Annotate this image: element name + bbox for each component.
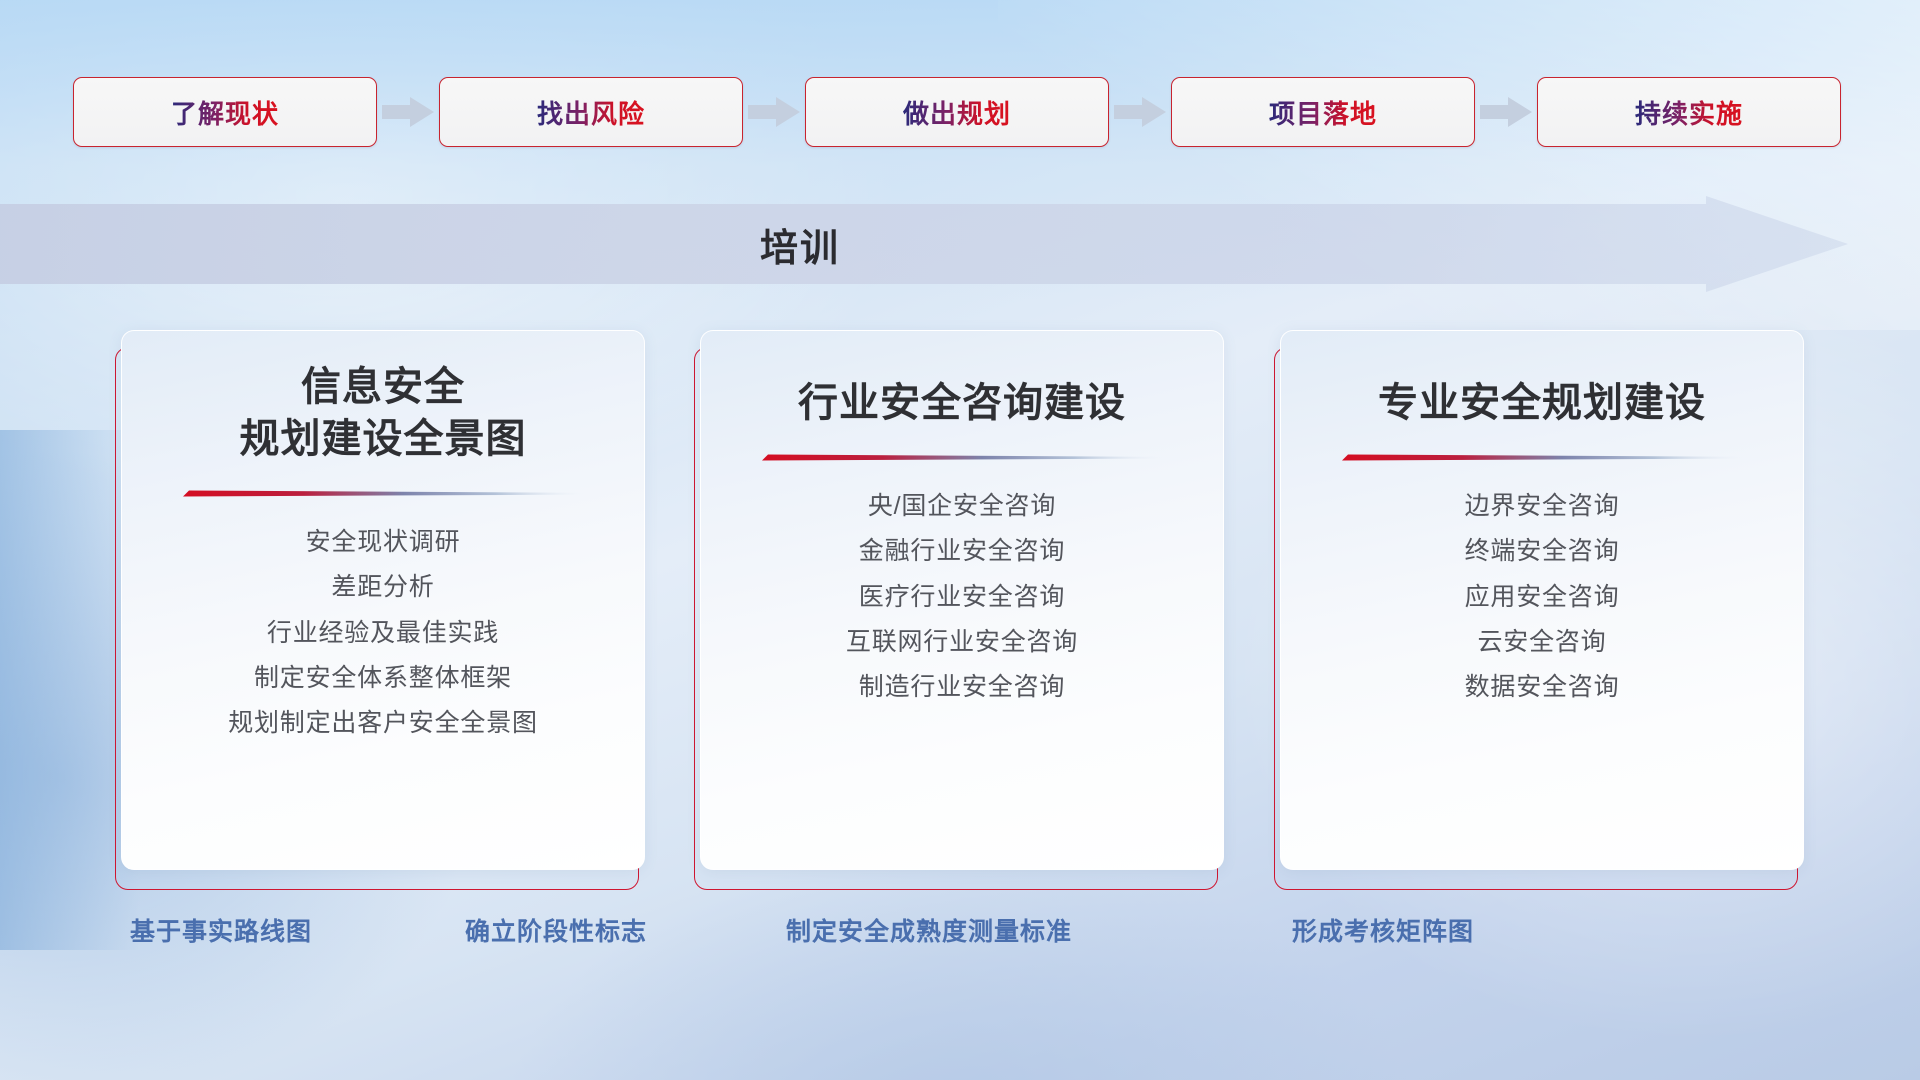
- step-label-1: 了解现状: [171, 94, 279, 131]
- card-1-panel[interactable]: 信息安全 规划建设全景图: [121, 330, 645, 870]
- card-1-title-line-1: 信息安全: [122, 361, 644, 413]
- card-1-title-line-2: 规划建设全景图: [122, 413, 644, 465]
- list-item: 金融行业安全咨询: [859, 536, 1065, 567]
- list-item: 数据安全咨询: [1465, 672, 1620, 703]
- step-label-2: 找出风险: [537, 94, 645, 131]
- training-label: 培训: [0, 196, 1600, 292]
- caption-3: 制定安全成熟度测量标准: [786, 910, 1072, 954]
- list-item: 应用安全咨询: [1465, 582, 1620, 613]
- caption-2: 确立阶段性标志: [465, 910, 647, 954]
- card-3-list: 边界安全咨询 终端安全咨询 应用安全咨询 云安全咨询 数据安全咨询: [1281, 491, 1803, 703]
- card-3-title: 专业安全规划建设: [1281, 377, 1803, 429]
- card-3-divider-icon: [1342, 451, 1742, 465]
- step-box-1[interactable]: 了解现状: [73, 77, 377, 147]
- step-box-3[interactable]: 做出规划: [805, 77, 1109, 147]
- list-item: 差距分析: [331, 572, 434, 603]
- card-1[interactable]: 信息安全 规划建设全景图: [115, 330, 645, 890]
- step-box-5[interactable]: 持续实施: [1537, 77, 1841, 147]
- card-3-title-line-1: 专业安全规划建设: [1281, 377, 1803, 429]
- outcome-captions: 基于事实路线图 确立阶段性标志 制定安全成熟度测量标准 形成考核矩阵图: [0, 910, 1920, 974]
- card-3-panel[interactable]: 专业安全规划建设 边界安: [1280, 330, 1804, 870]
- caption-1: 基于事实路线图: [130, 910, 312, 954]
- step-arrow-icon-4: [1475, 94, 1537, 130]
- step-label-3: 做出规划: [903, 94, 1011, 131]
- card-2[interactable]: 行业安全咨询建设 央/国: [694, 330, 1224, 890]
- card-2-divider-icon: [762, 451, 1162, 465]
- list-item: 云安全咨询: [1477, 627, 1606, 658]
- step-arrow-icon-2: [743, 94, 805, 130]
- card-2-title-line-1: 行业安全咨询建设: [701, 377, 1223, 429]
- step-box-4[interactable]: 项目落地: [1171, 77, 1475, 147]
- card-2-title: 行业安全咨询建设: [701, 377, 1223, 429]
- caption-4: 形成考核矩阵图: [1292, 910, 1474, 954]
- card-3[interactable]: 专业安全规划建设 边界安: [1274, 330, 1804, 890]
- card-2-panel[interactable]: 行业安全咨询建设 央/国: [700, 330, 1224, 870]
- list-item: 规划制定出客户安全全景图: [228, 708, 538, 739]
- card-1-divider-icon: [183, 487, 583, 501]
- list-item: 医疗行业安全咨询: [859, 582, 1065, 613]
- list-item: 行业经验及最佳实践: [267, 618, 499, 649]
- list-item: 互联网行业安全咨询: [846, 627, 1078, 658]
- card-1-title: 信息安全 规划建设全景图: [122, 361, 644, 465]
- list-item: 边界安全咨询: [1465, 491, 1620, 522]
- service-cards: 信息安全 规划建设全景图: [0, 330, 1920, 890]
- step-arrow-icon-1: [377, 94, 439, 130]
- list-item: 安全现状调研: [306, 527, 461, 558]
- step-box-2[interactable]: 找出风险: [439, 77, 743, 147]
- list-item: 制造行业安全咨询: [859, 672, 1065, 703]
- step-label-4: 项目落地: [1269, 94, 1377, 131]
- list-item: 制定安全体系整体框架: [254, 663, 512, 694]
- card-1-list: 安全现状调研 差距分析 行业经验及最佳实践 制定安全体系整体框架 规划制定出客户…: [122, 527, 644, 739]
- list-item: 终端安全咨询: [1465, 536, 1620, 567]
- list-item: 央/国企安全咨询: [868, 491, 1056, 522]
- process-step-flow: 了解现状 找出风险 做出规划 项目落地 持续实施: [0, 72, 1920, 152]
- card-2-list: 央/国企安全咨询 金融行业安全咨询 医疗行业安全咨询 互联网行业安全咨询 制造行…: [701, 491, 1223, 703]
- step-arrow-icon-3: [1109, 94, 1171, 130]
- step-label-5: 持续实施: [1635, 94, 1743, 131]
